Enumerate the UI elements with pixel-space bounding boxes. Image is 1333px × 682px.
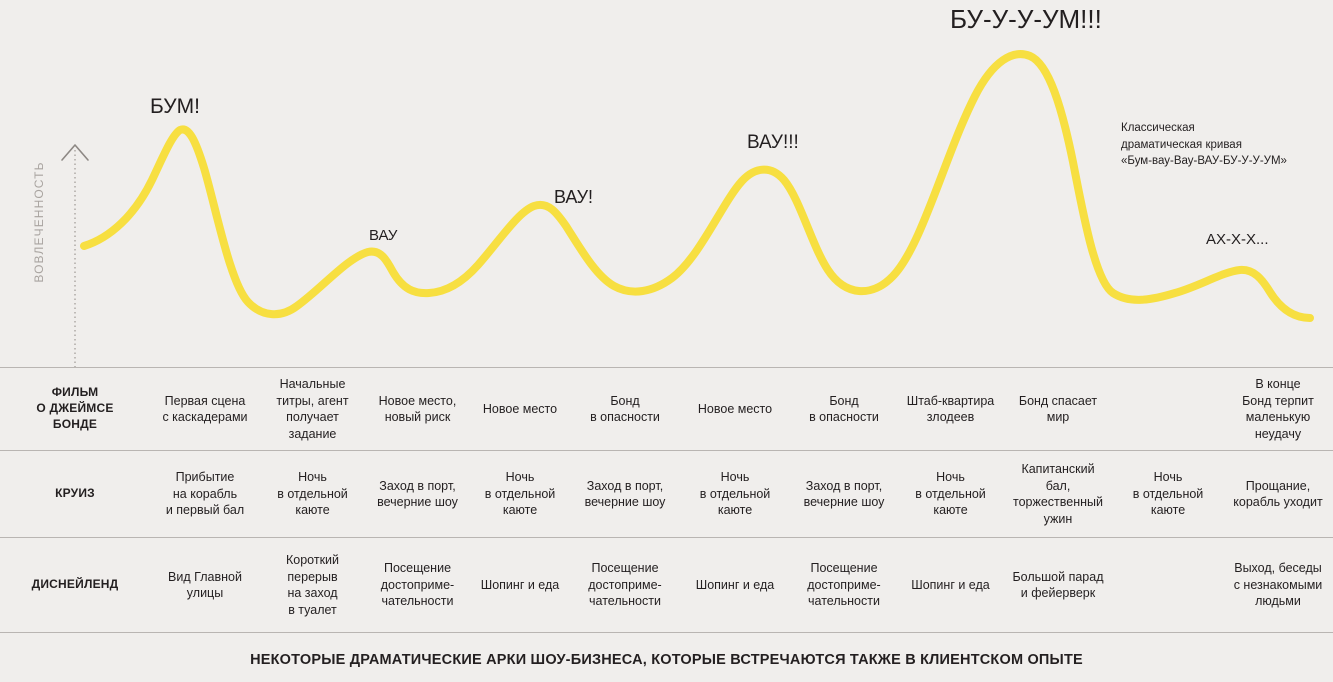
matrix-cell-line: Начальные: [263, 376, 362, 393]
matrix-cell: Бондв опасности: [570, 393, 680, 426]
matrix-cell-line: улицы: [153, 585, 257, 602]
peak-label-vau-2: ВАУ!: [554, 188, 593, 206]
matrix-cell: Заход в порт,вечерние шоу: [365, 478, 470, 511]
matrix-cell: Шопинг и еда: [680, 577, 790, 594]
matrix-cell-line: в опасности: [573, 409, 677, 426]
matrix-cell-line: на заход: [263, 585, 362, 602]
matrix-cell: Большой паради фейерверк: [1003, 569, 1113, 602]
matrix-cell: Первая сценас каскадерами: [150, 393, 260, 426]
matrix-cell-line: в отдельной: [473, 486, 567, 503]
matrix-cell-line: Новое место: [473, 401, 567, 418]
matrix-cell-line: достоприме-: [368, 577, 467, 594]
matrix-cell-line: Заход в порт,: [368, 478, 467, 495]
matrix-cell-line: торжественный: [1006, 494, 1110, 511]
annotation-line-1: Классическая: [1121, 120, 1331, 137]
matrix-cell-line: Выход, беседы: [1226, 560, 1330, 577]
matrix-cell-line: получает: [263, 409, 362, 426]
matrix-row-disney: ДИСНЕЙЛЕНДВид ГлавнойулицыКороткийпереры…: [0, 537, 1333, 633]
y-axis-arrow-icon: [62, 145, 88, 160]
matrix-cell: Ночьв отдельнойкаюте: [260, 469, 365, 519]
matrix-cell: Посещениедостоприме-чательности: [790, 560, 898, 610]
matrix-cell: Посещениедостоприме-чательности: [570, 560, 680, 610]
matrix-cell-line: в опасности: [793, 409, 895, 426]
matrix-cell-line: каюте: [263, 502, 362, 519]
matrix-cell-line: ужин: [1006, 511, 1110, 528]
matrix-cell-line: чательности: [368, 593, 467, 610]
row-header-disney: ДИСНЕЙЛЕНД: [0, 577, 150, 593]
curve-svg: [0, 0, 1333, 367]
matrix-cell-line: достоприме-: [793, 577, 895, 594]
matrix-cell-line: титры, агент: [263, 393, 362, 410]
matrix-cell-line: каюте: [901, 502, 1000, 519]
matrix-cell: Короткийперерывна заходв туалет: [260, 552, 365, 618]
matrix-cell-line: Большой парад: [1006, 569, 1110, 586]
matrix-cell-line: вечерние шоу: [793, 494, 895, 511]
matrix-cell-line: Шопинг и еда: [473, 577, 567, 594]
matrix-cell-line: в отдельной: [263, 486, 362, 503]
matrix-cell-line: новый риск: [368, 409, 467, 426]
matrix-cell-line: Прощание,: [1226, 478, 1330, 495]
matrix-cell: Ночьв отдельнойкаюте: [1113, 469, 1223, 519]
matrix-cell: Новое место: [470, 401, 570, 418]
matrix-cell-line: Ночь: [263, 469, 362, 486]
matrix-cell-line: каюте: [473, 502, 567, 519]
matrix-cell: Штаб-квартиразлодеев: [898, 393, 1003, 426]
matrix-cell: Ночьв отдельнойкаюте: [470, 469, 570, 519]
matrix-cell: В концеБонд терпитмаленькуюнеудачу: [1223, 376, 1333, 442]
matrix-cell-line: Посещение: [793, 560, 895, 577]
matrix-cell-line: чательности: [573, 593, 677, 610]
matrix-cell-line: Ночь: [1116, 469, 1220, 486]
matrix-cell-line: с каскадерами: [153, 409, 257, 426]
matrix-cell-line: В конце: [1226, 376, 1330, 393]
row-header-line: ФИЛЬМ: [3, 385, 147, 401]
matrix-cell-line: вечерние шоу: [368, 494, 467, 511]
matrix-cell-line: достоприме-: [573, 577, 677, 594]
matrix-cell-line: Заход в порт,: [793, 478, 895, 495]
matrix-cell-line: Новое место,: [368, 393, 467, 410]
peak-label-boooom: БУ-У-У-УМ!!!: [950, 6, 1102, 32]
matrix-cell: Шопинг и еда: [470, 577, 570, 594]
annotation-line-3: «Бум-вау-Вау-ВАУ-БУ-У-У-УМ»: [1121, 153, 1331, 170]
matrix-cell: Посещениедостоприме-чательности: [365, 560, 470, 610]
matrix-cell-line: Бонд спасает: [1006, 393, 1110, 410]
matrix-cell-line: Вид Главной: [153, 569, 257, 586]
matrix-cell-line: Посещение: [573, 560, 677, 577]
row-header-line: КРУИЗ: [3, 486, 147, 502]
matrix-cell-line: Посещение: [368, 560, 467, 577]
y-axis-label: ВОВЛЕЧЕННОСТЬ: [32, 142, 46, 302]
matrix-cell-line: на корабль: [153, 486, 257, 503]
matrix-cell-line: бал,: [1006, 478, 1110, 495]
row-header-line: О ДЖЕЙМСЕ: [3, 401, 147, 417]
engagement-curve-chart: БУМ! ВАУ ВАУ! ВАУ!!! БУ-У-У-УМ!!! АХ-Х-Х…: [0, 0, 1333, 367]
matrix-cell-line: Первая сцена: [153, 393, 257, 410]
matrix-cell-line: Штаб-квартира: [901, 393, 1000, 410]
engagement-curve: [84, 54, 1310, 318]
matrix-cell-line: вечерние шоу: [573, 494, 677, 511]
matrix-cell: Прибытиена корабльи первый бал: [150, 469, 260, 519]
matrix-row-cruise: КРУИЗПрибытиена корабльи первый балНочьв…: [0, 450, 1333, 537]
peak-label-ahh: АХ-Х-Х...: [1206, 232, 1269, 247]
matrix-cell-line: Шопинг и еда: [683, 577, 787, 594]
matrix-cell: Начальныетитры, агентполучаетзадание: [260, 376, 365, 442]
row-header-line: БОНДЕ: [3, 417, 147, 433]
matrix-cell-line: Ночь: [901, 469, 1000, 486]
matrix-cell-line: Заход в порт,: [573, 478, 677, 495]
annotation-line-2: драматическая кривая: [1121, 137, 1331, 154]
matrix-cell: Заход в порт,вечерние шоу: [570, 478, 680, 511]
matrix-cell-line: в отдельной: [1116, 486, 1220, 503]
matrix-cell: Новое место,новый риск: [365, 393, 470, 426]
matrix-cell-line: Шопинг и еда: [901, 577, 1000, 594]
matrix-cell: Бонд спасаетмир: [1003, 393, 1113, 426]
peak-label-boom: БУМ!: [150, 96, 200, 117]
matrix-cell-line: Ночь: [473, 469, 567, 486]
matrix-cell-line: в отдельной: [683, 486, 787, 503]
chart-caption: НЕКОТОРЫЕ ДРАМАТИЧЕСКИЕ АРКИ ШОУ-БИЗНЕСА…: [0, 652, 1333, 668]
matrix-cell-line: корабль уходит: [1226, 494, 1330, 511]
matrix-cell-line: мир: [1006, 409, 1110, 426]
matrix-cell-line: в отдельной: [901, 486, 1000, 503]
matrix-cell: Ночьв отдельнойкаюте: [898, 469, 1003, 519]
matrix-cell-line: в туалет: [263, 602, 362, 619]
row-header-bond: ФИЛЬМО ДЖЕЙМСЕБОНДЕ: [0, 385, 150, 432]
matrix-cell-line: каюте: [683, 502, 787, 519]
matrix-cell-line: неудачу: [1226, 426, 1330, 443]
matrix-cell-line: Капитанский: [1006, 461, 1110, 478]
matrix-row-bond: ФИЛЬМО ДЖЕЙМСЕБОНДЕПервая сценас каскаде…: [0, 367, 1333, 450]
matrix-cell-line: и первый бал: [153, 502, 257, 519]
matrix-cell-line: Новое место: [683, 401, 787, 418]
matrix-cell-line: чательности: [793, 593, 895, 610]
matrix-cell-line: и фейерверк: [1006, 585, 1110, 602]
matrix-cell-line: с незнакомыми: [1226, 577, 1330, 594]
matrix-cell: Прощание,корабль уходит: [1223, 478, 1333, 511]
arcs-matrix: ФИЛЬМО ДЖЕЙМСЕБОНДЕПервая сценас каскаде…: [0, 367, 1333, 633]
row-header-line: ДИСНЕЙЛЕНД: [3, 577, 147, 593]
matrix-cell: Выход, беседыс незнакомымилюдьми: [1223, 560, 1333, 610]
matrix-cell-line: маленькую: [1226, 409, 1330, 426]
matrix-cell: Шопинг и еда: [898, 577, 1003, 594]
matrix-cell-line: Бонд: [793, 393, 895, 410]
matrix-cell-line: Бонд: [573, 393, 677, 410]
matrix-cell: Заход в порт,вечерние шоу: [790, 478, 898, 511]
matrix-cell-line: каюте: [1116, 502, 1220, 519]
matrix-cell: Капитанскийбал,торжественныйужин: [1003, 461, 1113, 527]
row-header-cruise: КРУИЗ: [0, 486, 150, 502]
matrix-cell-line: Короткий: [263, 552, 362, 569]
matrix-cell-line: Прибытие: [153, 469, 257, 486]
matrix-cell: Новое место: [680, 401, 790, 418]
matrix-cell: Ночьв отдельнойкаюте: [680, 469, 790, 519]
curve-annotation: Классическая драматическая кривая «Бум-в…: [1121, 120, 1331, 170]
peak-label-vau-1: ВАУ: [369, 228, 397, 243]
matrix-cell-line: Бонд терпит: [1226, 393, 1330, 410]
matrix-cell-line: Ночь: [683, 469, 787, 486]
matrix-cell-line: перерыв: [263, 569, 362, 586]
matrix-cell-line: злодеев: [901, 409, 1000, 426]
matrix-cell: Бондв опасности: [790, 393, 898, 426]
matrix-cell-line: людьми: [1226, 593, 1330, 610]
matrix-cell: Вид Главнойулицы: [150, 569, 260, 602]
infographic-page: БУМ! ВАУ ВАУ! ВАУ!!! БУ-У-У-УМ!!! АХ-Х-Х…: [0, 0, 1333, 682]
peak-label-vau-3: ВАУ!!!: [747, 133, 799, 152]
matrix-cell-line: задание: [263, 426, 362, 443]
